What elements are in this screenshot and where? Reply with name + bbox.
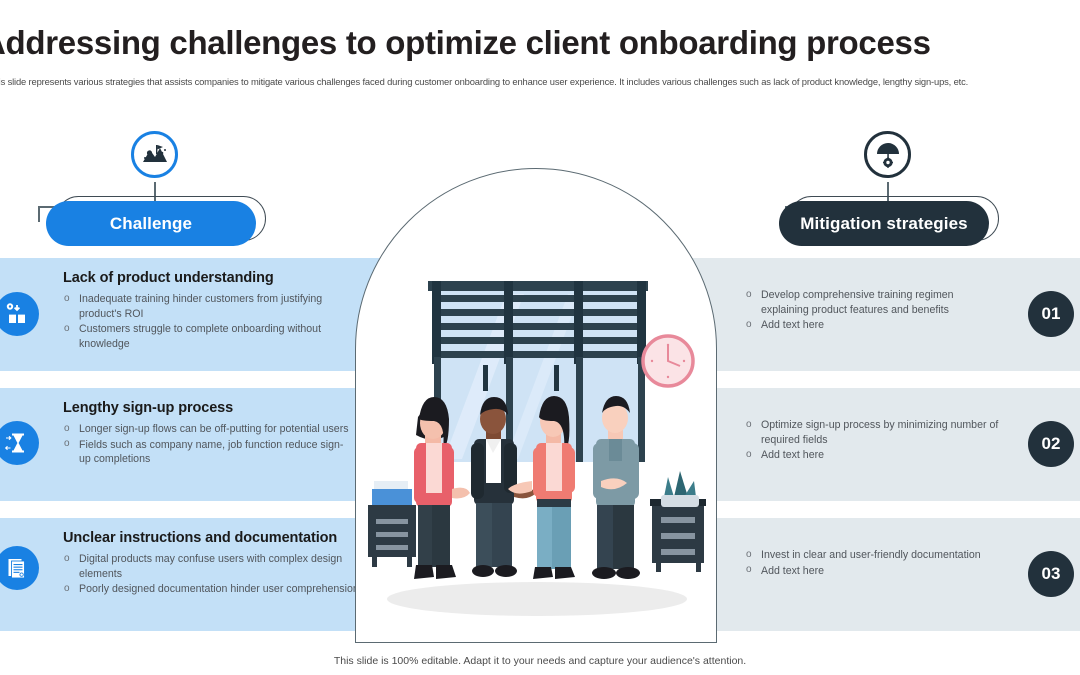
challenge-pill-label: Challenge — [110, 214, 192, 234]
challenge-bullet: Longer sign-up flows can be off-putting … — [63, 422, 353, 437]
mitigation-node-circle — [864, 131, 911, 178]
mitigation-bullet: Optimize sign-up process by minimizing n… — [745, 418, 1003, 447]
mitigation-bullet: Invest in clear and user-friendly docume… — [745, 548, 1003, 563]
side-table-plant — [650, 471, 706, 572]
step-number-label: 01 — [1042, 304, 1061, 324]
challenge-pill[interactable]: Challenge — [46, 201, 256, 246]
step-number-label: 02 — [1042, 434, 1061, 454]
challenge-bullet: Digital products may confuse users with … — [63, 552, 363, 581]
challenge-header: Challenge — [46, 196, 278, 252]
challenge-bullet: Customers struggle to complete onboardin… — [63, 322, 353, 351]
mitigation-bullet: Add text here — [745, 318, 1003, 333]
page-title: Addressing challenges to optimize client… — [0, 24, 1080, 62]
challenge-title-3: Unclear instructions and documentation — [63, 530, 337, 546]
step-number-label: 03 — [1042, 564, 1061, 584]
hourglass-icon — [4, 430, 30, 456]
illustration-svg — [356, 169, 717, 643]
umbrella-gear-icon — [873, 140, 903, 170]
mitigation-pill[interactable]: Mitigation strategies — [779, 201, 989, 246]
mountain-flag-icon — [140, 140, 170, 170]
mitigation-bullets-2: Optimize sign-up process by minimizing n… — [745, 418, 1003, 464]
floor-shadow — [387, 582, 687, 616]
step-number-2: 02 — [1028, 421, 1074, 467]
challenge-bullets-3: Digital products may confuse users with … — [63, 552, 363, 598]
challenge-bullet: Fields such as company name, job functio… — [63, 438, 353, 467]
document-icon — [4, 555, 30, 581]
challenge-bullet: Poorly designed documentation hinder use… — [63, 582, 363, 597]
wall-clock — [643, 336, 693, 386]
challenge-node-circle — [131, 131, 178, 178]
footer-note: This slide is 100% editable. Adapt it to… — [0, 655, 1080, 667]
mitigation-bullet: Add text here — [745, 448, 1003, 463]
page-subtitle: This slide represents various strategies… — [0, 74, 1080, 89]
mitigation-bullet: Develop comprehensive training regimen e… — [745, 288, 1003, 317]
office-handshake-illustration — [355, 168, 717, 643]
challenge-bullets-2: Longer sign-up flows can be off-putting … — [63, 422, 353, 468]
mitigation-bullets-1: Develop comprehensive training regimen e… — [745, 288, 1003, 334]
mitigation-header: Mitigation strategies — [779, 196, 1011, 252]
challenge-title-1: Lack of product understanding — [63, 270, 274, 286]
left-connector-elbow — [38, 206, 40, 222]
slide-canvas: Addressing challenges to optimize client… — [0, 0, 1080, 675]
mitigation-bullets-3: Invest in clear and user-friendly docume… — [745, 548, 1003, 579]
product-box-gear-icon — [4, 301, 30, 327]
mitigation-bullet: Add text here — [745, 564, 1003, 579]
challenge-bullet: Inadequate training hinder customers fro… — [63, 292, 353, 321]
step-number-3: 03 — [1028, 551, 1074, 597]
printer — [368, 481, 416, 567]
challenge-title-2: Lengthy sign-up process — [63, 400, 233, 416]
mitigation-pill-label: Mitigation strategies — [800, 214, 967, 234]
step-number-1: 01 — [1028, 291, 1074, 337]
challenge-bullets-1: Inadequate training hinder customers fro… — [63, 292, 353, 352]
